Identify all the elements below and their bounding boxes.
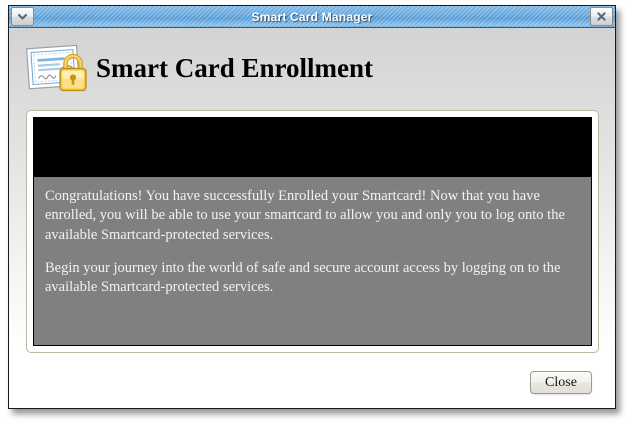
smart-card-manager-window: Smart Card Manager	[8, 5, 616, 409]
close-icon	[596, 11, 607, 22]
window-close-button[interactable]	[590, 7, 613, 26]
message-paragraph: Congratulations! You have successfully E…	[45, 187, 580, 245]
content-panel: Congratulations! You have successfully E…	[26, 110, 599, 353]
page-header: Smart Card Enrollment	[9, 28, 615, 96]
close-button[interactable]: Close	[530, 371, 592, 394]
window-title: Smart Card Manager	[34, 10, 590, 24]
certificate-lock-icon	[22, 40, 92, 96]
dialog-footer: Close	[9, 362, 615, 402]
screen-top-band	[34, 118, 591, 177]
page-title: Smart Card Enrollment	[96, 55, 373, 82]
screenshot-root: Smart Card Manager	[0, 0, 630, 427]
message-paragraph: Begin your journey into the world of saf…	[45, 259, 580, 298]
window-titlebar: Smart Card Manager	[9, 6, 615, 28]
window-menu-button[interactable]	[11, 7, 34, 26]
window-body: Smart Card Enrollment Congratulations! Y…	[9, 28, 615, 408]
message-screen: Congratulations! You have successfully E…	[33, 117, 592, 346]
message-text-area: Congratulations! You have successfully E…	[34, 177, 591, 345]
chevron-down-icon	[17, 12, 28, 21]
